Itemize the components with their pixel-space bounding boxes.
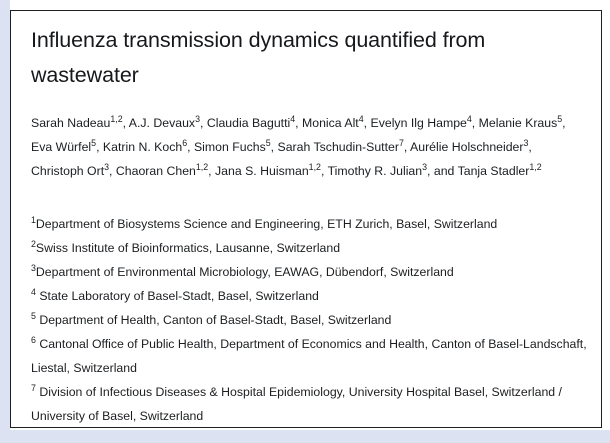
- author-name: A.J. Devaux: [129, 116, 195, 130]
- author-separator: ,: [200, 116, 207, 130]
- author-name: Melanie Kraus: [479, 116, 558, 130]
- author-list: Sarah Nadeau1,2, A.J. Devaux3, Claudia B…: [31, 111, 575, 183]
- author-separator: ,: [208, 164, 215, 178]
- author-affiliation-marker: 1,2: [309, 162, 321, 172]
- author-affiliation-marker: 1,2: [529, 162, 541, 172]
- author-separator: ,: [528, 140, 531, 154]
- author-name: Jana S. Huisman: [215, 164, 309, 178]
- page-title-line-2: wastewater: [31, 63, 139, 87]
- affiliation-item: 2Swiss Institute of Bioinformatics, Laus…: [31, 236, 587, 260]
- author-name: Chaoran Chen: [116, 164, 196, 178]
- affiliation-text: State Laboratory of Basel-Stadt, Basel, …: [36, 289, 319, 303]
- affiliation-item: 7 Division of Infectious Diseases & Hosp…: [31, 380, 587, 428]
- author-separator: ,: [96, 140, 103, 154]
- document-page: Influenza transmission dynamics quantifi…: [10, 10, 602, 428]
- page-backdrop: Influenza transmission dynamics quantifi…: [0, 0, 610, 443]
- page-title-line-1: Influenza transmission dynamics quantifi…: [31, 28, 485, 52]
- author-name: Tanja Stadler: [458, 164, 530, 178]
- affiliation-text: Cantonal Office of Public Health, Depart…: [31, 337, 587, 375]
- author-separator: ,: [295, 116, 302, 130]
- affiliation-text: Department of Biosystems Science and Eng…: [36, 217, 497, 231]
- author-name: Aurélie Holschneider: [410, 140, 523, 154]
- author-name: Monica Alt: [302, 116, 359, 130]
- page-title: Influenza transmission dynamics quantifi…: [31, 23, 551, 93]
- affiliation-list: 1Department of Biosystems Science and En…: [31, 212, 587, 428]
- author-name: Sarah Tschudin-Sutter: [278, 140, 399, 154]
- affiliation-text: Division of Infectious Diseases & Hospit…: [31, 385, 562, 423]
- page-bottom-margin-strip: [0, 430, 610, 443]
- author-name: Claudia Bagutti: [207, 116, 290, 130]
- author-name: Sarah Nadeau: [31, 116, 110, 130]
- author-name: Timothy R. Julian: [328, 164, 423, 178]
- author-name: Eva Würfel: [31, 140, 91, 154]
- author-name: Katrin N. Koch: [103, 140, 182, 154]
- author-name: Christoph Ort: [31, 164, 104, 178]
- affiliation-item: 4 State Laboratory of Basel-Stadt, Basel…: [31, 284, 587, 308]
- author-separator: ,: [187, 140, 194, 154]
- author-separator: ,: [321, 164, 328, 178]
- author-separator: ,: [271, 140, 278, 154]
- affiliation-text: Department of Environmental Microbiology…: [36, 265, 454, 279]
- page-left-margin-strip: [0, 0, 10, 443]
- author-separator: ,: [364, 116, 371, 130]
- affiliation-item: 6 Cantonal Office of Public Health, Depa…: [31, 332, 587, 380]
- affiliation-item: 5 Department of Health, Canton of Basel-…: [31, 308, 587, 332]
- author-separator: ,: [472, 116, 479, 130]
- affiliation-item: 3Department of Environmental Microbiolog…: [31, 260, 587, 284]
- affiliation-text: Department of Health, Canton of Basel-St…: [36, 313, 391, 327]
- author-name: Simon Fuchs: [194, 140, 266, 154]
- author-separator: ,: [562, 116, 565, 130]
- author-affiliation-marker: 1,2: [196, 162, 208, 172]
- author-separator: , and: [427, 164, 458, 178]
- document-content: Influenza transmission dynamics quantifi…: [31, 23, 589, 428]
- affiliation-item: 1Department of Biosystems Science and En…: [31, 212, 587, 236]
- author-affiliation-marker: 1,2: [110, 114, 122, 124]
- affiliation-text: Swiss Institute of Bioinformatics, Lausa…: [36, 241, 340, 255]
- author-separator: ,: [109, 164, 116, 178]
- author-name: Evelyn Ilg Hampe: [371, 116, 467, 130]
